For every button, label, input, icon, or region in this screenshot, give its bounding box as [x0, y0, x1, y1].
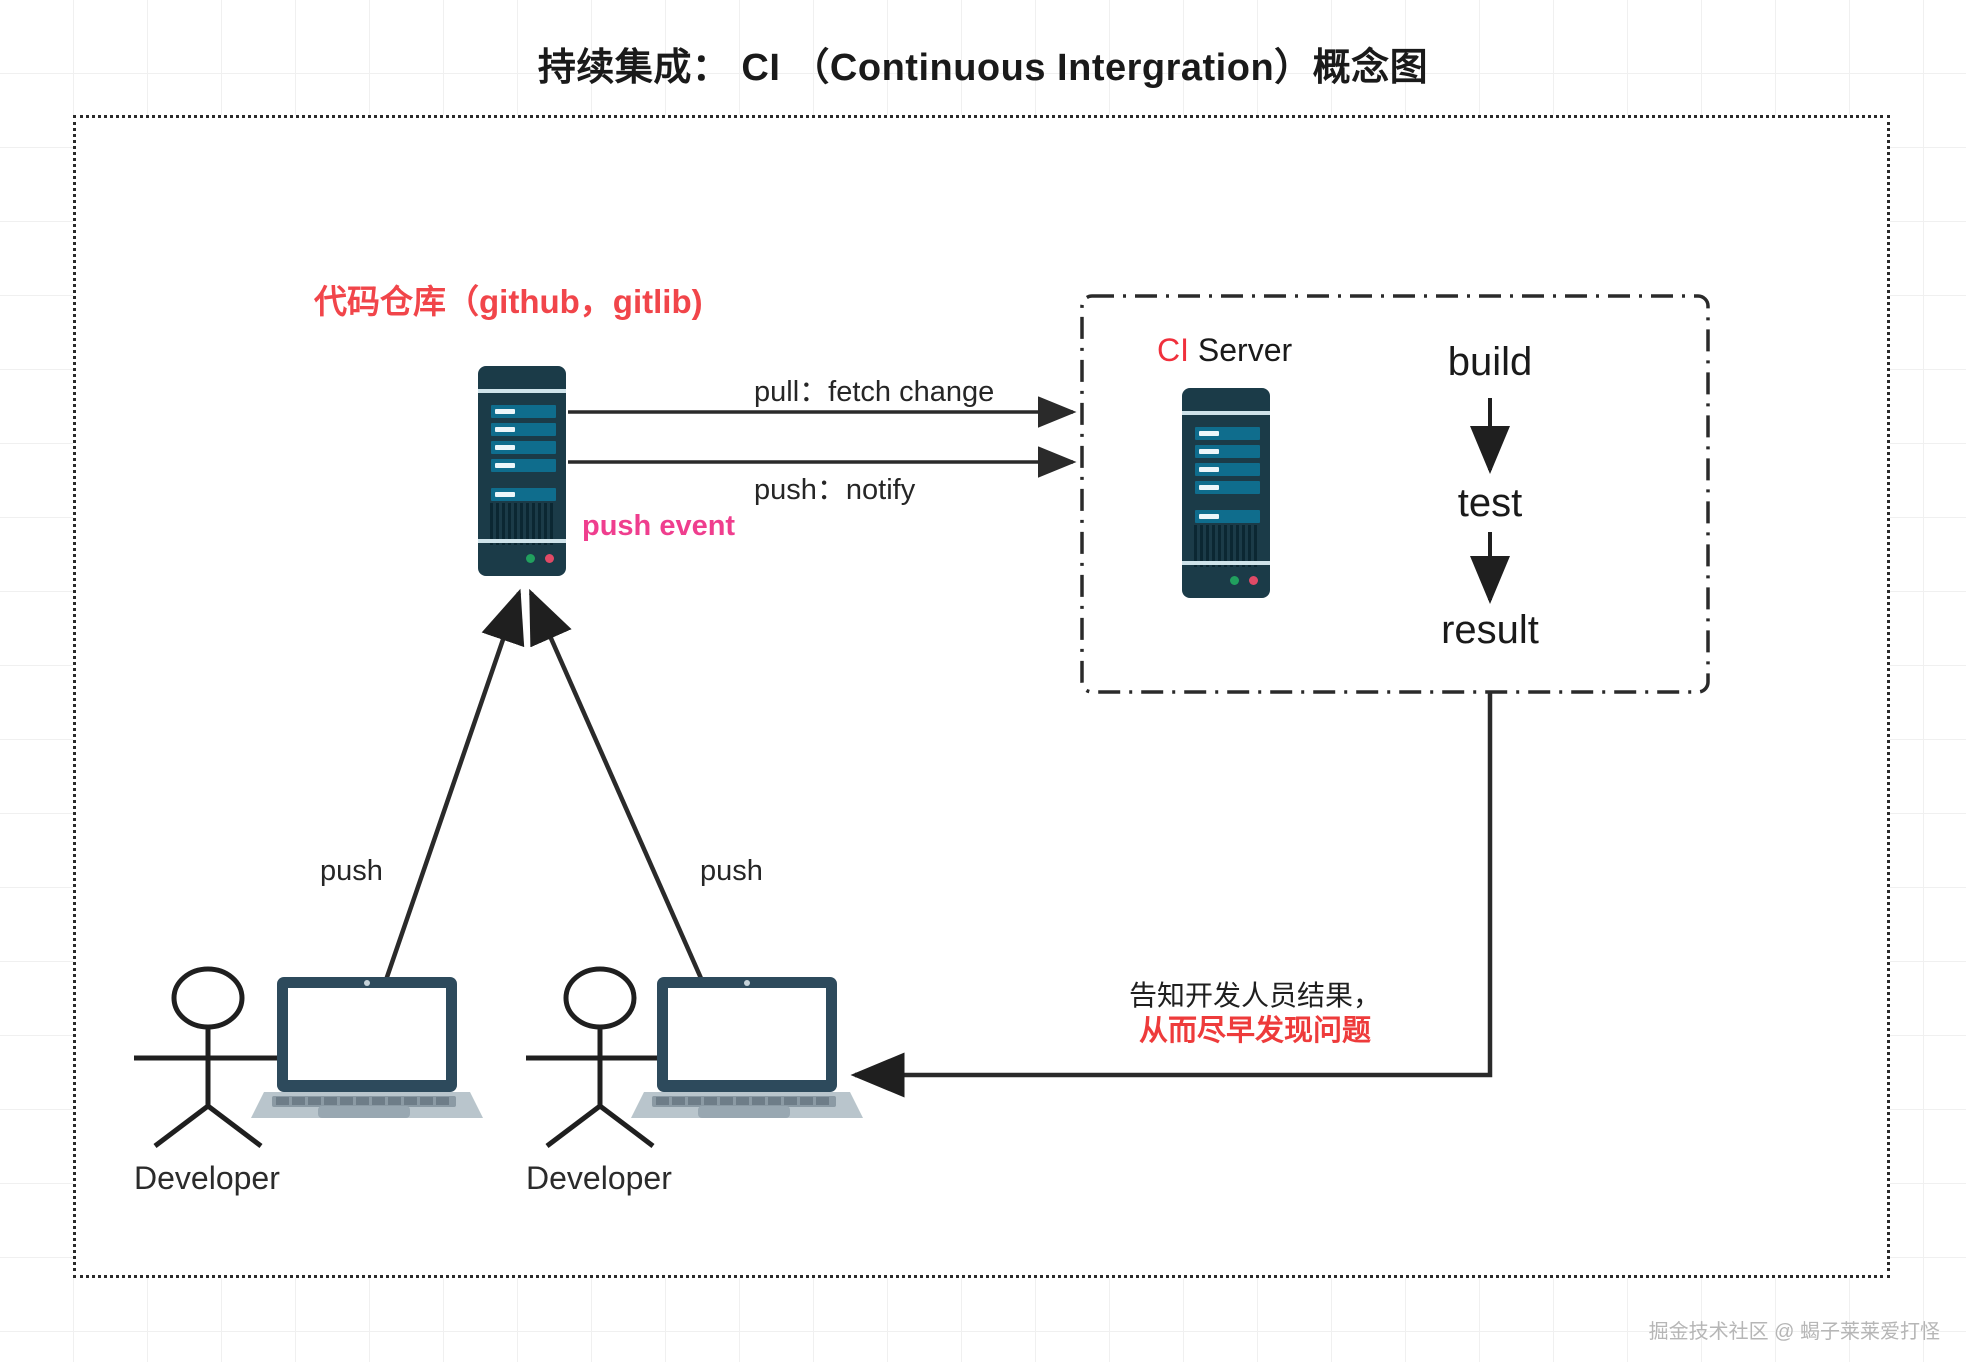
- watermark: 掘金技术社区 @ 蝎子莱莱爱打怪: [1649, 1315, 1940, 1344]
- pipeline-step-build: build: [1370, 340, 1610, 385]
- server-led-red-icon: [545, 554, 554, 563]
- flow-label-pull: pull：fetch change: [754, 368, 994, 410]
- server-top-trim: [1182, 411, 1270, 415]
- server-bottom-trim: [478, 539, 566, 543]
- pipeline-step-test: test: [1370, 481, 1610, 526]
- feedback-line-1: 告知开发人员结果，: [1110, 978, 1400, 1013]
- developer-label: Developer: [134, 1160, 280, 1197]
- feedback-line-2: 从而尽早发现问题: [1110, 1013, 1400, 1049]
- flow-label-push-right: push: [700, 855, 763, 888]
- ci-title-suffix: Server: [1189, 332, 1292, 368]
- page-title: 持续集成： CI （Continuous Intergration）概念图: [0, 36, 1966, 91]
- ci-server-title: CI Server: [1157, 332, 1292, 369]
- repository-label: 代码仓库（github，gitlib): [314, 275, 703, 323]
- push-event-label: push event: [582, 510, 735, 543]
- ci-title-prefix: CI: [1157, 332, 1189, 368]
- server-led-green-icon: [526, 554, 535, 563]
- server-led-red-icon: [1249, 576, 1258, 585]
- server-top-trim: [478, 389, 566, 393]
- pipeline-step-result: result: [1370, 608, 1610, 653]
- server-tower-icon: [1182, 388, 1270, 598]
- developer-label: Developer: [526, 1160, 672, 1197]
- flow-label-push-left: push: [320, 855, 383, 888]
- feedback-annotation: 告知开发人员结果， 从而尽早发现问题: [1110, 978, 1400, 1049]
- server-bottom-trim: [1182, 561, 1270, 565]
- flow-label-push-notify: push：notify: [754, 466, 915, 508]
- server-led-green-icon: [1230, 576, 1239, 585]
- server-tower-icon: [478, 366, 566, 576]
- diagram-stage: 持续集成： CI （Continuous Intergration）概念图 代码…: [0, 0, 1966, 1362]
